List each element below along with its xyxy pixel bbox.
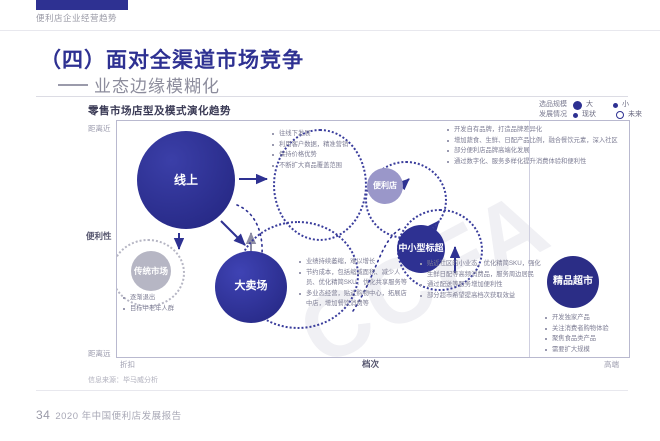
note-item: 贴近社区的小业态，优化精简SKU，强化生鲜日配等高频消费品，服务周边居民 [420, 259, 545, 280]
note-item: 需要扩大规模 [545, 345, 630, 356]
note-item: 节约成本，包括缩减面积、减少人员、优化精简SKU、优化共享服务等 [299, 268, 409, 289]
note-item: 目标中老年人群 [123, 304, 185, 315]
note-item: 增加蔬食、生鲜、日配产品比例，融合餐饮元素，深入社区 [447, 136, 622, 147]
notes-online-list: 往线下发展利用客户数据，精准营销保持价格优势不断扩大商品覆盖范围 [272, 129, 394, 171]
page-number: 34 [36, 408, 50, 422]
legend-future-circle-icon [616, 111, 624, 119]
legend-row-state: 发展情况 现状 未来 [539, 110, 642, 120]
notes-convenience: 开发自有品牌，打造品牌差异化增加蔬食、生鲜、日配产品比例，融合餐饮元素，深入社区… [447, 125, 622, 167]
legend-future-label: 未来 [628, 110, 642, 120]
note-item: 部分便利店品牌高端化发展 [447, 146, 622, 157]
legend-current-label: 现状 [582, 110, 596, 120]
chart-plot-area: CCFA [116, 120, 630, 358]
y-axis-title: 便利性 [86, 230, 112, 242]
note-item: 多业态经营，贴近购物中心，拓展店中店，增加餐饮消费等 [299, 289, 409, 310]
note-item: 业绩持续萎缩，难以增长 [299, 257, 409, 268]
slide-page: 便利店企业经营趋势 （四）面对全渠道市场竞争 业态边缘模糊化 零售市场店型及模式… [0, 0, 660, 441]
note-item: 逐渐退出 [123, 293, 185, 304]
note-item: 不断扩大商品覆盖范围 [272, 161, 394, 172]
legend-state-label: 发展情况 [539, 110, 567, 120]
legend-row-size: 选品规模 大 小 [539, 100, 642, 110]
notes-premium-list: 开发独家产品关注消费者购物体验聚焦食品类产品需要扩大规模 [545, 313, 630, 355]
note-item: 开发自有品牌，打造品牌差异化 [447, 125, 622, 136]
header-kicker: 便利店企业经营趋势 [36, 12, 117, 24]
notes-traditional: 逐渐退出目标中老年人群 [123, 293, 185, 314]
note-item: 通过数字化、服务多样化提升消费体验和便利性 [447, 157, 622, 168]
notes-hypermarket-list: 业绩持续萎缩，难以增长节约成本，包括缩减面积、减少人员、优化精简SKU、优化共享… [299, 257, 409, 310]
legend-large-label: 大 [586, 100, 593, 110]
note-item: 开发独家产品 [545, 313, 630, 324]
chart-legend: 选品规模 大 小 发展情况 现状 未来 [539, 100, 642, 120]
chart-source: 信息来源：毕马威分析 [88, 375, 158, 385]
footer-title: 2020 年中国便利店发展报告 [55, 411, 181, 422]
notes-hypermarket: 业绩持续萎缩，难以增长节约成本，包括缩减面积、减少人员、优化精简SKU、优化共享… [299, 257, 409, 310]
notes-convenience-list: 开发自有品牌，打造品牌差异化增加蔬食、生鲜、日配产品比例，融合餐饮元素，深入社区… [447, 125, 622, 167]
x-axis-left-label: 折扣 [120, 359, 135, 370]
notes-midsuper: 贴近社区的小业态，优化精简SKU，强化生鲜日配等高频消费品，服务周边居民通过配送… [420, 259, 545, 301]
legend-small-label: 小 [622, 100, 629, 110]
page-subtitle: 业态边缘模糊化 [94, 77, 220, 96]
note-item: 部分超市希望提高档次获取效益 [420, 291, 545, 302]
header-divider [0, 30, 660, 31]
note-item: 往线下发展 [272, 129, 394, 140]
bubble-traditional-market[interactable]: 传统市场 [131, 251, 171, 291]
bubble-hypermarket[interactable]: 大卖场 [215, 251, 287, 323]
legend-current-dot-icon [573, 113, 578, 118]
page-footer: 342020 年中国便利店发展报告 [36, 408, 182, 422]
legend-small-dot-icon [613, 103, 618, 108]
note-item: 关注消费者购物体验 [545, 324, 630, 335]
page-title: （四）面对全渠道市场竞争 [40, 44, 304, 74]
notes-premium: 开发独家产品关注消费者购物体验聚焦食品类产品需要扩大规模 [545, 313, 630, 355]
note-item: 利用客户数据，精准营销 [272, 140, 394, 151]
x-axis-title: 档次 [362, 358, 379, 370]
chart-top-divider [36, 96, 628, 97]
note-item: 通过配送等服务增加便利性 [420, 280, 545, 291]
notes-midsuper-list: 贴近社区的小业态，优化精简SKU，强化生鲜日配等高频消费品，服务周边居民通过配送… [420, 259, 545, 301]
note-item: 聚焦食品类产品 [545, 334, 630, 345]
chart-title: 零售市场店型及模式演化趋势 [88, 103, 231, 118]
x-axis-right-label: 高端 [604, 359, 619, 370]
bubble-online[interactable]: 线上 [137, 131, 235, 229]
bubble-premium-supermarket[interactable]: 精品超市 [547, 256, 599, 308]
notes-online: 往线下发展利用客户数据，精准营销保持价格优势不断扩大商品覆盖范围 [272, 129, 394, 171]
header-accent-bar [36, 0, 128, 10]
chart-bottom-divider [36, 390, 628, 391]
note-item: 保持价格优势 [272, 150, 394, 161]
subtitle-dash [58, 84, 88, 86]
legend-size-label: 选品规模 [539, 100, 567, 110]
y-axis-bottom-label: 距离远 [88, 348, 111, 359]
notes-traditional-list: 逐渐退出目标中老年人群 [123, 293, 185, 314]
page-subtitle-wrap: 业态边缘模糊化 [58, 72, 220, 97]
bubble-convenience-store[interactable]: 便利店 [367, 168, 403, 204]
y-axis-top-label: 距离近 [88, 123, 111, 134]
legend-large-dot-icon [573, 101, 582, 110]
